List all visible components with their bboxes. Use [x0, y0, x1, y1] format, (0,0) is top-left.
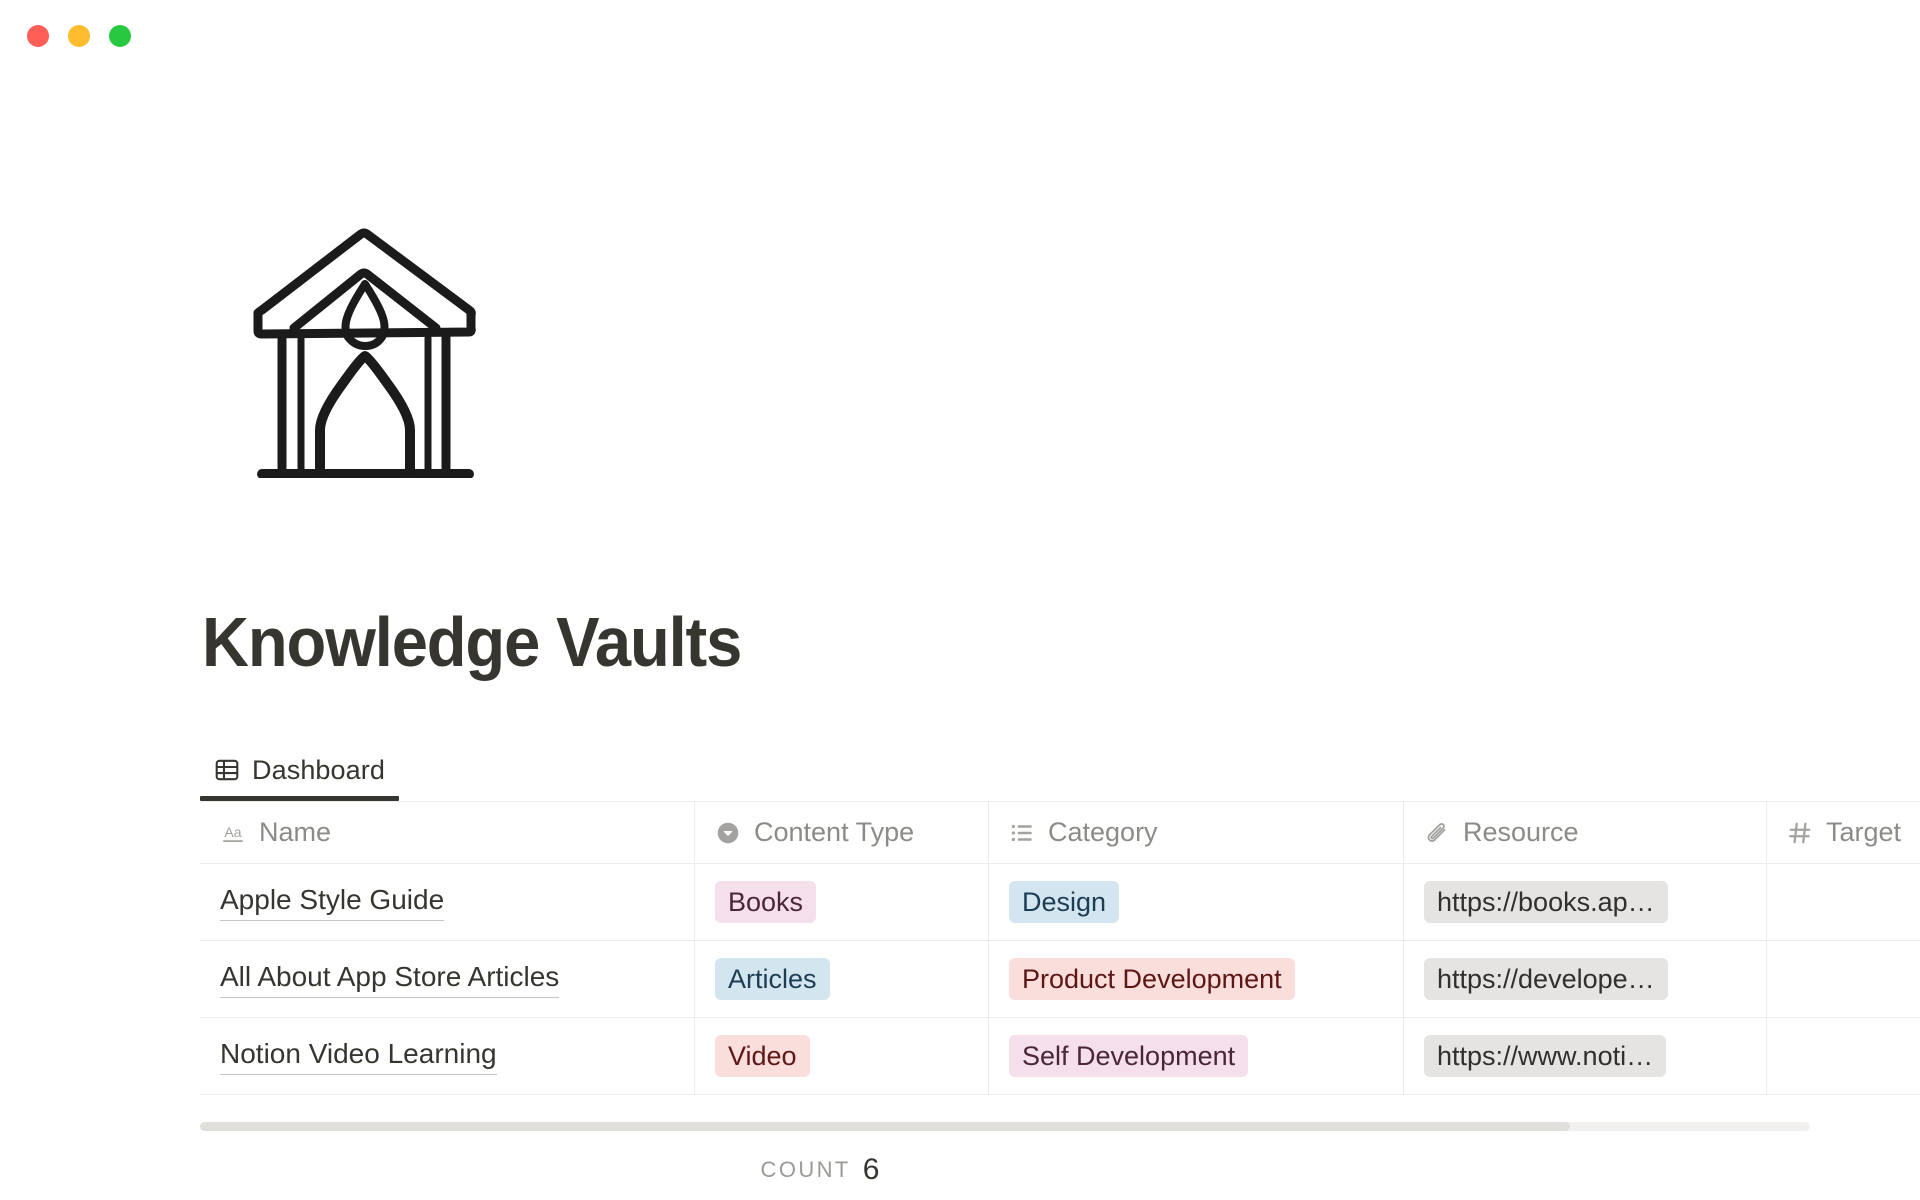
column-header-category-label: Category — [1048, 817, 1158, 848]
cell-resource[interactable]: https://develope… — [1404, 941, 1767, 1017]
cell-name[interactable]: Apple Style Guide — [200, 864, 695, 940]
cell-target[interactable] — [1767, 941, 1920, 1017]
cell-target[interactable] — [1767, 1018, 1920, 1094]
column-header-resource-label: Resource — [1463, 817, 1579, 848]
table-row: Apple Style Guide Books Design https://b… — [200, 864, 1920, 941]
row-title-link[interactable]: All About App Store Articles — [220, 960, 559, 998]
minimize-window-button[interactable] — [68, 25, 90, 47]
select-circle-chevron-down-icon — [715, 820, 741, 846]
cell-name[interactable]: All About App Store Articles — [200, 941, 695, 1017]
cell-content-type[interactable]: Articles — [695, 941, 989, 1017]
scrollbar-thumb[interactable] — [200, 1122, 1570, 1131]
table-row: Notion Video Learning Video Self Develop… — [200, 1018, 1920, 1095]
category-pill: Product Development — [1009, 958, 1295, 1000]
column-header-name-label: Name — [259, 817, 331, 848]
tab-dashboard[interactable]: Dashboard — [200, 740, 399, 800]
category-pill: Design — [1009, 881, 1119, 923]
paperclip-icon — [1424, 820, 1450, 846]
maximize-window-button[interactable] — [109, 25, 131, 47]
svg-text:Aa: Aa — [224, 823, 241, 839]
traffic-lights — [27, 25, 131, 47]
database-table: Aa Name Content Type — [200, 802, 1920, 1095]
row-title-link[interactable]: Notion Video Learning — [220, 1037, 497, 1075]
table-icon — [214, 757, 240, 783]
cell-resource[interactable]: https://www.noti… — [1404, 1018, 1767, 1094]
column-header-resource[interactable]: Resource — [1404, 802, 1767, 863]
horizontal-scrollbar[interactable] — [200, 1122, 1810, 1131]
resource-url-chip[interactable]: https://develope… — [1424, 958, 1668, 1000]
close-window-button[interactable] — [27, 25, 49, 47]
view-tab-bar: Dashboard — [200, 740, 1920, 802]
table-header-row: Aa Name Content Type — [200, 802, 1920, 864]
resource-url-chip[interactable]: https://www.noti… — [1424, 1035, 1666, 1077]
content-type-pill: Articles — [715, 958, 830, 1000]
page-title: Knowledge Vaults — [202, 600, 741, 684]
cell-content-type[interactable]: Books — [695, 864, 989, 940]
table-row: All About App Store Articles Articles Pr… — [200, 941, 1920, 1018]
cell-category[interactable]: Product Development — [989, 941, 1404, 1017]
column-header-content-type[interactable]: Content Type — [695, 802, 989, 863]
cell-category[interactable]: Design — [989, 864, 1404, 940]
category-pill: Self Development — [1009, 1035, 1248, 1077]
row-title-link[interactable]: Apple Style Guide — [220, 883, 444, 921]
table-count-footer[interactable]: COUNT 6 — [200, 1148, 1440, 1192]
cell-category[interactable]: Self Development — [989, 1018, 1404, 1094]
cell-target[interactable] — [1767, 864, 1920, 940]
window-titlebar — [0, 0, 1920, 72]
count-label: COUNT — [761, 1157, 851, 1183]
column-header-name[interactable]: Aa Name — [200, 802, 695, 863]
text-aa-icon: Aa — [220, 820, 246, 846]
column-header-category[interactable]: Category — [989, 802, 1404, 863]
hand-drawn-shrine-house-icon[interactable] — [248, 218, 483, 478]
cell-name[interactable]: Notion Video Learning — [200, 1018, 695, 1094]
column-header-target[interactable]: Target — [1767, 802, 1920, 863]
column-header-content-type-label: Content Type — [754, 817, 914, 848]
count-value: 6 — [863, 1153, 880, 1187]
column-header-target-label: Target — [1826, 817, 1901, 848]
cell-resource[interactable]: https://books.ap… — [1404, 864, 1767, 940]
resource-url-chip[interactable]: https://books.ap… — [1424, 881, 1668, 923]
content-type-pill: Books — [715, 881, 816, 923]
multi-select-list-icon — [1009, 820, 1035, 846]
cell-content-type[interactable]: Video — [695, 1018, 989, 1094]
notion-page: Knowledge Vaults Dashboard Aa — [0, 0, 1920, 1200]
tab-dashboard-label: Dashboard — [252, 755, 385, 786]
number-hash-icon — [1787, 820, 1813, 846]
content-type-pill: Video — [715, 1035, 810, 1077]
